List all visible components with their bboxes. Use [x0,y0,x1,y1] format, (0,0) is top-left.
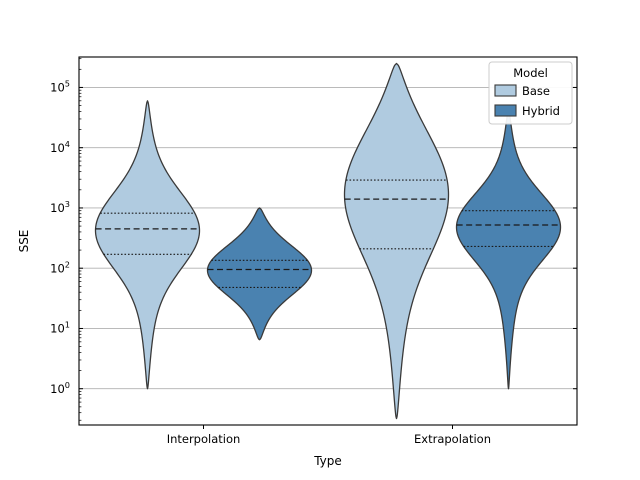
y-tick-label: 103 [50,199,70,215]
legend-title: Model [513,66,548,80]
x-axis-title: Type [313,454,342,468]
legend-label-hybrid[interactable]: Hybrid [522,104,560,118]
y-tick-label: 104 [50,139,70,155]
violin-base-extrapolation[interactable] [345,63,449,418]
violin-base-interpolation[interactable] [96,101,200,389]
x-tick-label-extrapolation: Extrapolation [414,432,491,446]
legend-swatch-base[interactable] [495,85,516,96]
violin-hybrid-extrapolation[interactable] [457,110,561,389]
violin-plot-figure: 100101102103104105 InterpolationExtrapol… [0,0,640,480]
legend-label-base[interactable]: Base [522,84,550,98]
legend-swatch-hybrid[interactable] [495,105,516,116]
x-axis-ticks: InterpolationExtrapolation [167,425,491,446]
x-tick-label-interpolation: Interpolation [167,432,241,446]
y-tick-label: 100 [50,380,70,396]
legend[interactable]: ModelBaseHybrid [489,62,572,124]
y-axis-title: SSE [17,230,31,253]
y-tick-label: 101 [50,320,70,336]
chart-canvas: 100101102103104105 InterpolationExtrapol… [0,0,640,480]
y-tick-label: 105 [50,79,70,95]
y-tick-label: 102 [50,259,70,275]
violin-hybrid-interpolation[interactable] [208,208,312,340]
y-axis-tick-labels: 100101102103104105 [50,79,70,396]
